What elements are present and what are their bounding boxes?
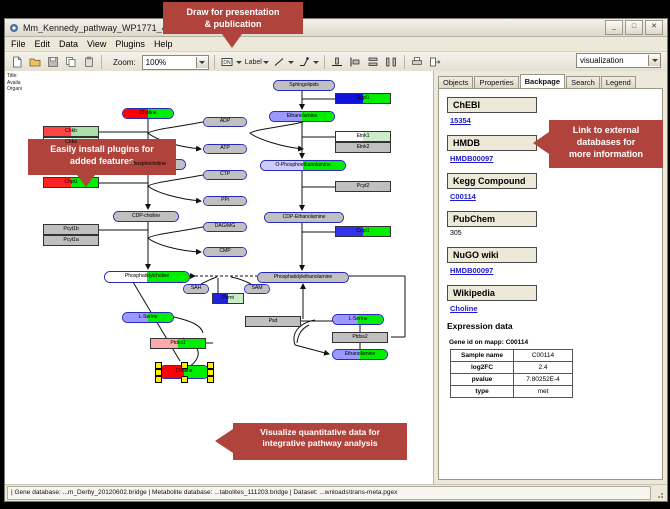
status-bar: | Gene database: ...m_Derby_20120602.bri…	[5, 484, 667, 501]
align-left-icon[interactable]	[348, 55, 363, 70]
node-label: SAM	[252, 286, 263, 291]
callout-visualize-arrow	[215, 429, 233, 453]
line-dropdown[interactable]	[272, 55, 294, 70]
side-panel-tabs: Objects Properties Backpage Search Legen…	[438, 75, 663, 89]
expression-key: type	[451, 386, 514, 398]
stack-icon[interactable]	[366, 55, 381, 70]
menu-item-data[interactable]: Data	[59, 39, 78, 49]
node-label: CMP	[219, 249, 230, 254]
selection-handle-3[interactable]	[155, 369, 162, 376]
node-label: L-Serine	[349, 317, 368, 322]
node-label: PPi	[221, 198, 229, 203]
node-label: Chpt1	[64, 180, 77, 185]
chevron-down-icon[interactable]	[313, 61, 319, 64]
callout-link-line1: Link to external	[555, 124, 657, 136]
window-controls: _ □ ✕	[605, 20, 663, 35]
node-label: CDP-choline	[132, 214, 160, 219]
paste-icon[interactable]	[81, 55, 96, 70]
node-label: Phosphatidylcholine	[125, 274, 169, 279]
menu-bar: File Edit Data View Plugins Help	[5, 37, 667, 52]
selection-handle-6[interactable]	[181, 376, 188, 383]
minimize-button[interactable]: _	[605, 20, 623, 35]
node-label: Choline	[140, 111, 157, 116]
node-label: Pcyt2	[357, 184, 369, 189]
node-label: L-Serine	[139, 315, 158, 320]
tab-properties[interactable]: Properties	[474, 76, 518, 88]
callout-plugins-line1: Easily install plugins for	[34, 143, 170, 155]
visualization-combo[interactable]: visualization	[576, 53, 661, 68]
selection-handle-5[interactable]	[155, 376, 162, 383]
backpage-header-nugowiki: NuGO wiki	[447, 247, 537, 263]
callout-visualize: Visualize quantitative data for integrat…	[233, 423, 407, 460]
toolbar-separator	[404, 55, 405, 69]
screenshot-root: Mm_Kennedy_pathway_WP1771_45176.gpml - P…	[0, 0, 670, 509]
distribute-icon[interactable]	[384, 55, 399, 70]
node-label: Ptdss1	[170, 341, 185, 346]
node-label: Cept1	[356, 229, 369, 234]
expression-table: Sample name C00114 log2FC 2.4 pvalue 7.8…	[450, 349, 573, 398]
maximize-button[interactable]: □	[625, 20, 643, 35]
toolbar: Zoom: 100% DN Label	[5, 52, 667, 73]
print-icon[interactable]	[410, 55, 425, 70]
backpage-header-pubchem: PubChem	[447, 211, 537, 227]
tab-objects[interactable]: Objects	[438, 76, 473, 88]
node-label: Pemt	[222, 296, 234, 301]
pathway-canvas[interactable]: Title: Availa Organi	[5, 71, 434, 484]
backpage-header-hmdb: HMDB	[447, 135, 537, 151]
callout-visualize-line2: integrative pathway analysis	[239, 438, 401, 449]
node-label: Ethanolamine	[345, 352, 376, 357]
selection-handle-0[interactable]	[155, 362, 162, 369]
application-window: Mm_Kennedy_pathway_WP1771_45176.gpml - P…	[4, 18, 668, 502]
node-label: CDP-Ethanolamine	[283, 215, 326, 220]
expression-data-title: Expression data	[447, 321, 654, 331]
node-label: Ptdss2	[352, 335, 367, 340]
node-label: Chka	[65, 140, 77, 145]
node-label: SAH	[191, 286, 201, 291]
backpage-link-kegg[interactable]: C00114	[450, 192, 654, 201]
node-label: Phosphocholine	[130, 162, 166, 167]
open-folder-icon[interactable]	[27, 55, 42, 70]
chevron-down-icon[interactable]	[288, 61, 294, 64]
table-row: pvalue 7.80252E-4	[451, 374, 573, 386]
callout-link: Link to external databases for more info…	[549, 120, 663, 168]
expression-value: met	[514, 386, 573, 398]
table-row: type met	[451, 386, 573, 398]
expression-value: 2.4	[514, 362, 573, 374]
table-row: Sample name C00114	[451, 350, 573, 362]
close-button[interactable]: ✕	[645, 20, 663, 35]
chevron-down-icon[interactable]	[263, 61, 269, 64]
tab-search[interactable]: Search	[566, 76, 600, 88]
svg-text:DN: DN	[224, 60, 232, 66]
selection-handle-2[interactable]	[207, 362, 214, 369]
menu-item-view[interactable]: View	[87, 39, 106, 49]
selection-handle-7[interactable]	[207, 376, 214, 383]
menu-item-edit[interactable]: Edit	[35, 39, 51, 49]
backpage-value-pubchem: 305	[450, 230, 654, 237]
callout-draw-arrow	[222, 34, 242, 48]
callout-draw-line2: & publication	[169, 18, 297, 30]
zoom-label: Zoom:	[113, 58, 136, 67]
node-label: Psd	[269, 319, 278, 324]
backpage-header-wikipedia: Wikipedia	[447, 285, 537, 301]
node-label: ADP	[220, 119, 230, 124]
tab-backpage[interactable]: Backpage	[520, 74, 565, 89]
node-label: Sgpl1	[357, 96, 370, 101]
node-label: O-Phosphoethanolamine	[275, 163, 330, 168]
node-label: ATP	[220, 146, 229, 151]
node-label: Pcyt1b	[63, 227, 78, 232]
node-label: Choline	[176, 369, 193, 374]
callout-visualize-line1: Visualize quantitative data for	[239, 427, 401, 438]
expression-value: 7.80252E-4	[514, 374, 573, 386]
backpage-link-wikipedia[interactable]: Choline	[450, 304, 654, 313]
node-label: Chkb	[65, 129, 77, 134]
visualization-value: visualization	[580, 56, 624, 65]
new-file-icon[interactable]	[9, 55, 24, 70]
callout-link-line2: databases for	[555, 136, 657, 148]
chevron-down-icon[interactable]	[648, 55, 660, 66]
callout-plugins-arrow	[77, 175, 95, 187]
label-dropdown[interactable]: Label	[245, 59, 269, 66]
callout-link-line3: more information	[555, 148, 657, 160]
copy-icon[interactable]	[63, 55, 78, 70]
resize-grip-icon[interactable]	[653, 487, 665, 499]
expression-key: log2FC	[451, 362, 514, 374]
node-label: Etnk2	[357, 145, 370, 150]
selection-handle-4[interactable]	[207, 369, 214, 376]
backpage-header-kegg: Kegg Compound	[447, 173, 537, 189]
chevron-down-icon[interactable]	[236, 61, 242, 64]
toolbar-separator	[324, 55, 325, 69]
expression-key: Sample name	[451, 350, 514, 362]
tab-legend[interactable]: Legend	[601, 76, 636, 88]
zoom-value: 100%	[146, 58, 166, 67]
node-label: CTP	[220, 172, 230, 177]
node-label: Sphingolipids	[289, 83, 319, 88]
table-row: log2FC 2.4	[451, 362, 573, 374]
expression-key: pvalue	[451, 374, 514, 386]
app-icon	[9, 23, 19, 33]
menu-item-help[interactable]: Help	[154, 39, 173, 49]
interaction-dropdown[interactable]	[297, 55, 319, 70]
export-icon[interactable]	[428, 55, 443, 70]
datanode-dropdown[interactable]: DN	[220, 55, 242, 70]
backpage-link-nugowiki[interactable]: HMDB00097	[450, 266, 654, 275]
title-bar: Mm_Kennedy_pathway_WP1771_45176.gpml - P…	[5, 19, 667, 37]
zoom-combo[interactable]: 100%	[142, 55, 209, 70]
status-text: | Gene database: ...m_Derby_20120602.bri…	[7, 486, 651, 500]
interaction-icon[interactable]	[297, 55, 312, 70]
menu-item-file[interactable]: File	[11, 39, 26, 49]
menu-item-plugins[interactable]: Plugins	[115, 39, 145, 49]
node-label: DAG/MG	[215, 224, 235, 229]
node-label: Pcyt1a	[63, 238, 78, 243]
align-top-icon[interactable]	[330, 55, 345, 70]
chevron-down-icon[interactable]	[196, 57, 208, 68]
callout-draw-line1: Draw for presentation	[169, 6, 297, 18]
backpage-header-chebi: ChEBI	[447, 97, 537, 113]
save-icon[interactable]	[45, 55, 60, 70]
gene-id-line: Gene id on mapp: C00114	[449, 339, 654, 346]
callout-plugins: Easily install plugins for added feature…	[28, 139, 176, 175]
toolbar-separator	[214, 55, 215, 69]
expression-value: C00114	[514, 350, 573, 362]
callout-link-arrow	[533, 132, 549, 154]
node-label: Ethanolamine	[287, 114, 318, 119]
datanode-icon[interactable]: DN	[220, 55, 235, 70]
toolbar-separator	[101, 55, 102, 69]
node-label: Etnk1	[357, 134, 370, 139]
label-tool-label: Label	[245, 59, 262, 66]
node-label: Phosphatidylethanolamine	[274, 275, 332, 280]
callout-draw: Draw for presentation & publication	[163, 2, 303, 34]
line-icon[interactable]	[272, 55, 287, 70]
